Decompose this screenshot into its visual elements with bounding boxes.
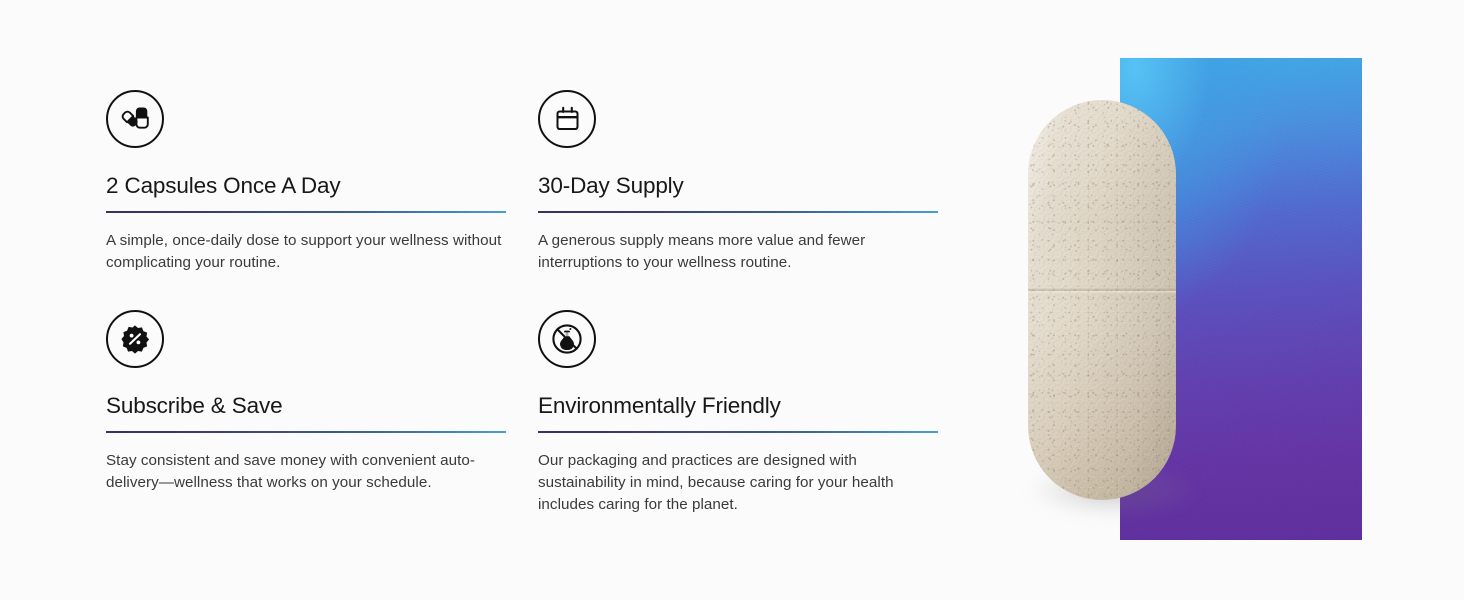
calendar-icon xyxy=(538,90,596,148)
feature-card-supply: 30-Day Supply A generous supply means mo… xyxy=(538,90,942,275)
percent-badge-icon xyxy=(106,310,164,368)
capsule-product-image xyxy=(1028,100,1176,500)
feature-divider xyxy=(538,431,938,433)
feature-description: Stay consistent and save money with conv… xyxy=(106,450,506,495)
feature-card-eco: Environmentally Friendly Our packaging a… xyxy=(538,310,942,517)
feature-divider xyxy=(106,211,506,213)
feature-title: 2 Capsules Once A Day xyxy=(106,173,510,199)
feature-title: Environmentally Friendly xyxy=(538,393,942,419)
two-capsules-icon xyxy=(106,90,164,148)
feature-description: A simple, once-daily dose to support you… xyxy=(106,230,506,275)
feature-title: 30-Day Supply xyxy=(538,173,942,199)
hero-product-visual xyxy=(980,0,1464,600)
feature-card-subscribe: Subscribe & Save Stay consistent and sav… xyxy=(106,310,510,517)
feature-title: Subscribe & Save xyxy=(106,393,510,419)
feature-grid: 2 Capsules Once A Day A simple, once-dai… xyxy=(106,90,946,517)
feature-description: A generous supply means more value and f… xyxy=(538,230,938,275)
feature-divider xyxy=(106,431,506,433)
benefits-section: 2 Capsules Once A Day A simple, once-dai… xyxy=(0,0,1464,600)
feature-description: Our packaging and practices are designed… xyxy=(538,450,938,517)
no-chemicals-flask-icon xyxy=(538,310,596,368)
feature-divider xyxy=(538,211,938,213)
feature-card-capsules: 2 Capsules Once A Day A simple, once-dai… xyxy=(106,90,510,275)
